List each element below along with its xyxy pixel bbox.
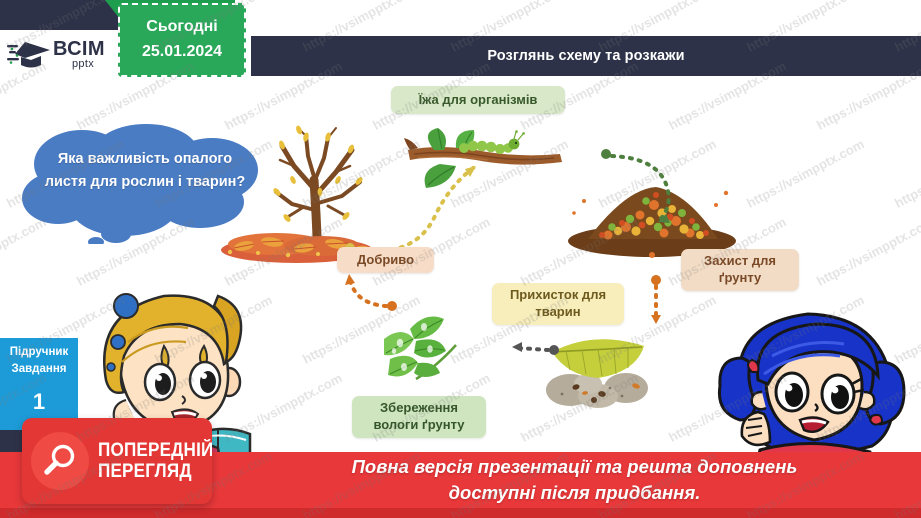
task-panel-number: 1	[0, 389, 78, 415]
date-badge: Сьогодні 25.01.2024	[118, 3, 246, 77]
green-leaves-with-dew	[360, 305, 472, 393]
branch-with-caterpillar	[404, 128, 576, 198]
brand-sub: pptx	[72, 59, 105, 70]
date-badge-label: Сьогодні	[146, 15, 217, 40]
preview-badge-line2: ПЕРЕГЛЯД	[98, 461, 212, 482]
arrow-pile-to-shelter	[651, 275, 661, 324]
brand-logo[interactable]: ВСІМ pptx	[0, 30, 135, 78]
label-fertilizer: Добриво	[337, 247, 434, 273]
watermark-text: https://vsimpptx.com	[892, 136, 921, 211]
preview-badge: ПОПЕРЕДНІЙ ПЕРЕГЛЯД	[22, 418, 212, 504]
label-animal-shelter: Прихисток для тварин	[492, 283, 624, 325]
brand-name: ВСІМ	[53, 39, 105, 59]
preview-badge-text: ПОПЕРЕДНІЙ ПЕРЕГЛЯД	[98, 440, 212, 483]
purchase-banner: Повна версія презентації та решта доповн…	[228, 452, 921, 508]
label-soil-protection: Захист для ґрунту	[681, 249, 799, 291]
page-title: Розглянь схему та розкажи	[251, 36, 921, 76]
purchase-banner-line1: Повна версія презентації та решта доповн…	[352, 454, 798, 480]
preview-badge-line1: ПОПЕРЕДНІЙ	[98, 440, 212, 461]
label-soil-moisture: Збереження вологи ґрунту	[352, 396, 486, 438]
question-bubble: Яка важливість опалого листя для рослин …	[20, 122, 268, 244]
watermark-text: https://vsimpptx.com	[814, 214, 921, 289]
watermark-text: https://vsimpptx.com	[744, 136, 866, 211]
date-badge-date: 25.01.2024	[142, 40, 222, 65]
magnifier-icon	[41, 442, 79, 480]
preview-badge-circle	[31, 432, 89, 490]
task-panel-line2: Завдання	[0, 361, 78, 378]
purchase-banner-line2: доступні після придбання.	[449, 480, 701, 506]
question-bubble-text: Яка важливість опалого листя для рослин …	[42, 148, 248, 195]
banner-bottom-strip	[0, 508, 921, 518]
task-panel-line1: Підручник	[0, 344, 78, 361]
graduation-cap-icon	[7, 39, 51, 69]
label-food-for-organisms: Їжа для організмів	[391, 86, 565, 114]
slide-canvas: Їжа для організмів Добриво Захист для ґр…	[0, 0, 921, 518]
leaf-over-stones-with-insects	[540, 330, 658, 410]
